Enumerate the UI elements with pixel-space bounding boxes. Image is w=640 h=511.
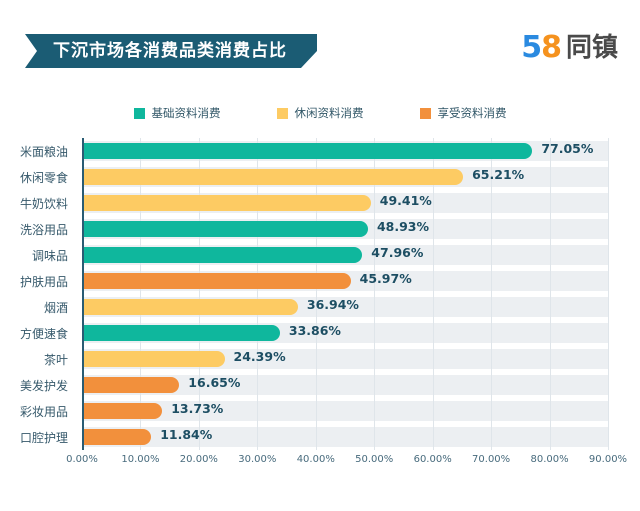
x-tick-label: 60.00%	[414, 454, 452, 465]
brand-logo: 5 8 同镇	[521, 33, 618, 63]
category-label-text: 米面粮油	[20, 143, 68, 160]
bar[interactable]	[82, 351, 225, 367]
legend-item-1[interactable]: 基础资料消费	[134, 105, 221, 121]
category-label-text: 口腔护理	[20, 429, 68, 446]
bar-value-label: 77.05%	[541, 141, 593, 156]
category-label-text: 牛奶饮料	[20, 195, 68, 212]
category-label-text: 休闲零食	[20, 169, 68, 186]
category-label-3: 牛奶饮料	[0, 190, 74, 216]
bar-row[interactable]: 36.94%	[82, 294, 640, 320]
logo-digit-5: 5	[521, 33, 542, 63]
logo-digit-8: 8	[541, 33, 562, 63]
bar[interactable]	[82, 143, 532, 159]
bar[interactable]	[82, 325, 280, 341]
category-label-text: 彩妆用品	[20, 403, 68, 420]
category-label-12: 口腔护理	[0, 424, 74, 450]
bar-row[interactable]: 45.97%	[82, 268, 640, 294]
bar[interactable]	[82, 377, 179, 393]
category-label-4: 洗浴用品	[0, 216, 74, 242]
plot-area: 77.05%65.21%49.41%48.93%47.96%45.97%36.9…	[82, 138, 608, 450]
bar-value-label: 36.94%	[307, 297, 359, 312]
bar-value-label: 45.97%	[360, 271, 412, 286]
logo-brand-text: 同镇	[566, 35, 618, 61]
x-tick-label: 70.00%	[472, 454, 510, 465]
category-label-7: 烟酒	[0, 294, 74, 320]
bar[interactable]	[82, 429, 151, 445]
bar[interactable]	[82, 221, 368, 237]
x-tick-label: 20.00%	[180, 454, 218, 465]
category-label-text: 烟酒	[44, 299, 68, 316]
bar[interactable]	[82, 299, 298, 315]
bar-chart: 77.05%65.21%49.41%48.93%47.96%45.97%36.9…	[0, 134, 640, 479]
bar-row[interactable]: 49.41%	[82, 190, 640, 216]
bar-row[interactable]: 16.65%	[82, 372, 640, 398]
bar-value-label: 49.41%	[380, 193, 432, 208]
legend-item-label: 休闲资料消费	[295, 105, 364, 121]
x-tick-label: 40.00%	[297, 454, 335, 465]
x-tick-label: 80.00%	[530, 454, 568, 465]
bar-row[interactable]: 24.39%	[82, 346, 640, 372]
x-axis-ticks: 0.00%10.00%20.00%30.00%40.00%50.00%60.00…	[82, 454, 608, 474]
bar-row[interactable]: 48.93%	[82, 216, 640, 242]
category-label-text: 方便速食	[20, 325, 68, 342]
legend-item-label: 享受资料消费	[438, 105, 507, 121]
category-label-1: 米面粮油	[0, 138, 74, 164]
bar-row[interactable]: 65.21%	[82, 164, 640, 190]
title-banner: 下沉市场各消费品类消费占比	[25, 34, 317, 68]
bar-value-label: 11.84%	[160, 427, 212, 442]
x-tick-label: 10.00%	[121, 454, 159, 465]
category-label-text: 调味品	[32, 247, 68, 264]
bar-value-label: 13.73%	[171, 401, 223, 416]
bar-value-label: 48.93%	[377, 219, 429, 234]
category-label-8: 方便速食	[0, 320, 74, 346]
legend-item-label: 基础资料消费	[152, 105, 221, 121]
bar-value-label: 33.86%	[289, 323, 341, 338]
category-label-5: 调味品	[0, 242, 74, 268]
bar[interactable]	[82, 169, 463, 185]
category-label-9: 茶叶	[0, 346, 74, 372]
bar-value-label: 16.65%	[188, 375, 240, 390]
legend-item-3[interactable]: 享受资料消费	[420, 105, 507, 121]
bar-row[interactable]: 77.05%	[82, 138, 640, 164]
category-label-11: 彩妆用品	[0, 398, 74, 424]
category-label-2: 休闲零食	[0, 164, 74, 190]
bar[interactable]	[82, 273, 351, 289]
page-title: 下沉市场各消费品类消费占比	[53, 43, 287, 60]
bar-value-label: 24.39%	[234, 349, 286, 364]
y-axis-line	[82, 138, 84, 450]
legend-swatch-icon	[277, 108, 288, 119]
category-axis-labels: 米面粮油休闲零食牛奶饮料洗浴用品调味品护肤用品烟酒方便速食茶叶美发护发彩妆用品口…	[0, 138, 74, 450]
chart-legend: 基础资料消费休闲资料消费享受资料消费	[0, 105, 640, 121]
bar-row[interactable]: 13.73%	[82, 398, 640, 424]
bar[interactable]	[82, 247, 362, 263]
bar-value-label: 47.96%	[371, 245, 423, 260]
x-tick-label: 0.00%	[66, 454, 98, 465]
page-header: 下沉市场各消费品类消费占比 5 8 同镇	[0, 0, 640, 92]
category-label-text: 洗浴用品	[20, 221, 68, 238]
bar-row[interactable]: 11.84%	[82, 424, 640, 450]
bar-value-label: 65.21%	[472, 167, 524, 182]
bar-row[interactable]: 47.96%	[82, 242, 640, 268]
bar[interactable]	[82, 195, 371, 211]
category-label-text: 美发护发	[20, 377, 68, 394]
x-tick-label: 90.00%	[589, 454, 627, 465]
legend-item-2[interactable]: 休闲资料消费	[277, 105, 364, 121]
x-tick-label: 50.00%	[355, 454, 393, 465]
category-label-6: 护肤用品	[0, 268, 74, 294]
category-label-10: 美发护发	[0, 372, 74, 398]
bar-row[interactable]: 33.86%	[82, 320, 640, 346]
legend-swatch-icon	[420, 108, 431, 119]
bar[interactable]	[82, 403, 162, 419]
category-label-text: 茶叶	[44, 351, 68, 368]
legend-swatch-icon	[134, 108, 145, 119]
x-tick-label: 30.00%	[238, 454, 276, 465]
category-label-text: 护肤用品	[20, 273, 68, 290]
